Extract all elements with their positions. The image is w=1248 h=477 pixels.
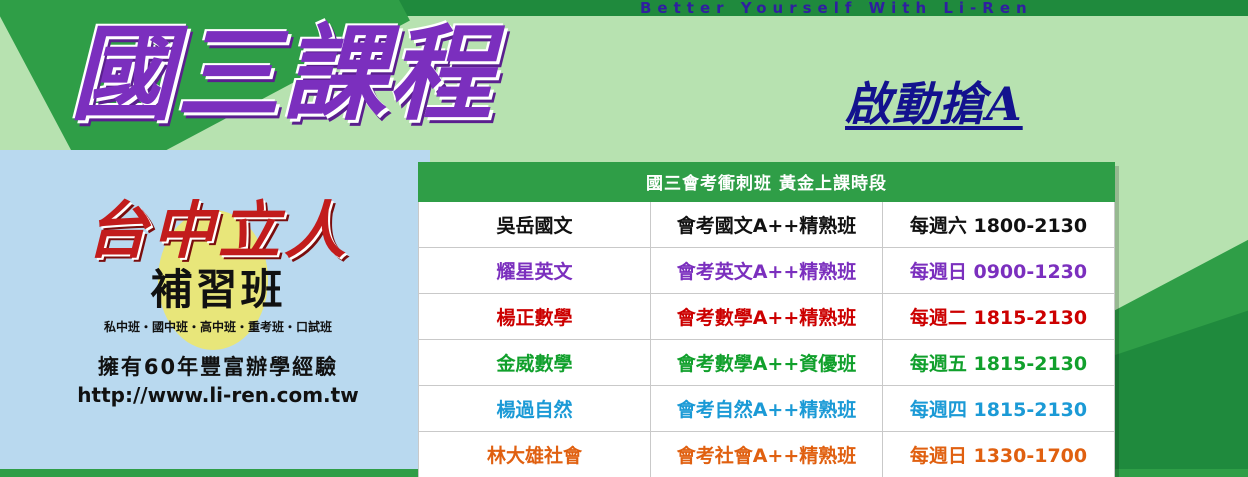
cell-teacher: 耀星英文 [419, 248, 651, 294]
cell-teacher: 楊過自然 [419, 386, 651, 432]
cell-teacher: 楊正數學 [419, 294, 651, 340]
cell-teacher: 金威數學 [419, 340, 651, 386]
logo-name-sub: 補習班 [18, 266, 418, 314]
cell-teacher: 林大雄社會 [419, 432, 651, 477]
page-title: 國三課程 [70, 16, 494, 132]
cell-time: 每週五 1815-2130 [883, 340, 1115, 386]
schedule-header-title: 國三會考衝刺班 黃金上課時段 [419, 163, 1115, 202]
page-subtitle: 啟動搶A [845, 68, 1023, 134]
cell-time: 每週四 1815-2130 [883, 386, 1115, 432]
table-row: 金威數學會考數學A++資優班每週五 1815-2130 [419, 340, 1115, 386]
table-row: 耀星英文會考英文A++精熟班每週日 0900-1230 [419, 248, 1115, 294]
cell-time: 每週日 1330-1700 [883, 432, 1115, 477]
logo-class-list: 私中班・國中班・高中班・重考班・口試班 [18, 318, 418, 335]
logo-website-url[interactable]: http://www.li-ren.com.tw [18, 383, 418, 407]
cell-course: 會考自然A++精熟班 [651, 386, 883, 432]
table-row: 吳岳國文會考國文A++精熟班每週六 1800-2130 [419, 202, 1115, 248]
logo-block: 台中立人 補習班 私中班・國中班・高中班・重考班・口試班 擁有60年豐富辦學經驗… [18, 196, 418, 407]
cell-course: 會考數學A++精熟班 [651, 294, 883, 340]
cell-time: 每週日 0900-1230 [883, 248, 1115, 294]
cell-course: 會考國文A++精熟班 [651, 202, 883, 248]
logo-name: 台中立人 [18, 196, 418, 266]
poster-root: Better Yourself With Li-Ren 國三課程 啟動搶A 台中… [0, 0, 1248, 477]
cell-course: 會考英文A++精熟班 [651, 248, 883, 294]
cell-time: 每週二 1815-2130 [883, 294, 1115, 340]
cell-course: 會考數學A++資優班 [651, 340, 883, 386]
table-row: 楊正數學會考數學A++精熟班每週二 1815-2130 [419, 294, 1115, 340]
cell-course: 會考社會A++精熟班 [651, 432, 883, 477]
logo-experience: 擁有60年豐富辦學經驗 [18, 351, 418, 381]
cell-teacher: 吳岳國文 [419, 202, 651, 248]
tagline-text: Better Yourself With Li-Ren [640, 0, 1240, 17]
cell-time: 每週六 1800-2130 [883, 202, 1115, 248]
table-row: 楊過自然會考自然A++精熟班每週四 1815-2130 [419, 386, 1115, 432]
schedule-table: 國三會考衝刺班 黃金上課時段 吳岳國文會考國文A++精熟班每週六 1800-21… [418, 162, 1115, 477]
table-header-row: 國三會考衝刺班 黃金上課時段 [419, 163, 1115, 202]
table-row: 林大雄社會會考社會A++精熟班每週日 1330-1700 [419, 432, 1115, 477]
schedule-table-body: 吳岳國文會考國文A++精熟班每週六 1800-2130耀星英文會考英文A++精熟… [419, 202, 1115, 477]
schedule-table-wrapper: 國三會考衝刺班 黃金上課時段 吳岳國文會考國文A++精熟班每週六 1800-21… [418, 162, 1115, 477]
